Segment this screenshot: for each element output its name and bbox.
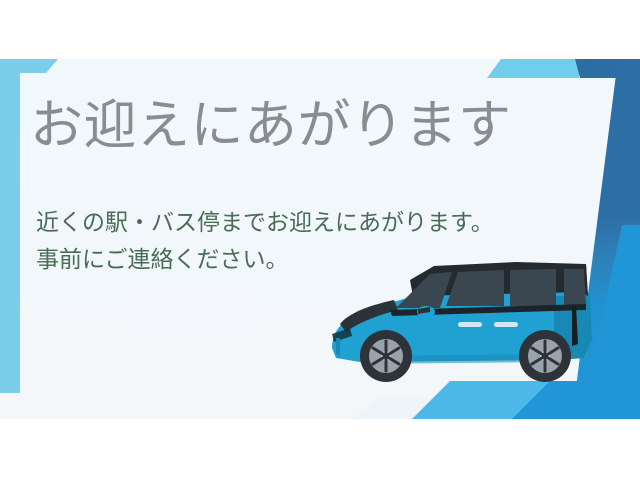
minivan-illustration bbox=[318, 252, 610, 388]
headline: お迎えにあがります bbox=[30, 98, 512, 154]
promo-banner: お迎えにあがります 近くの駅・バス停までお迎えにあがります。 事前にご連絡くださ… bbox=[0, 0, 640, 480]
body-line-1: 近くの駅・バス停までお迎えにあがります。 bbox=[36, 204, 494, 241]
rear-wheel bbox=[519, 330, 571, 382]
top-light-blue-band bbox=[487, 59, 579, 78]
front-wheel bbox=[360, 330, 412, 382]
